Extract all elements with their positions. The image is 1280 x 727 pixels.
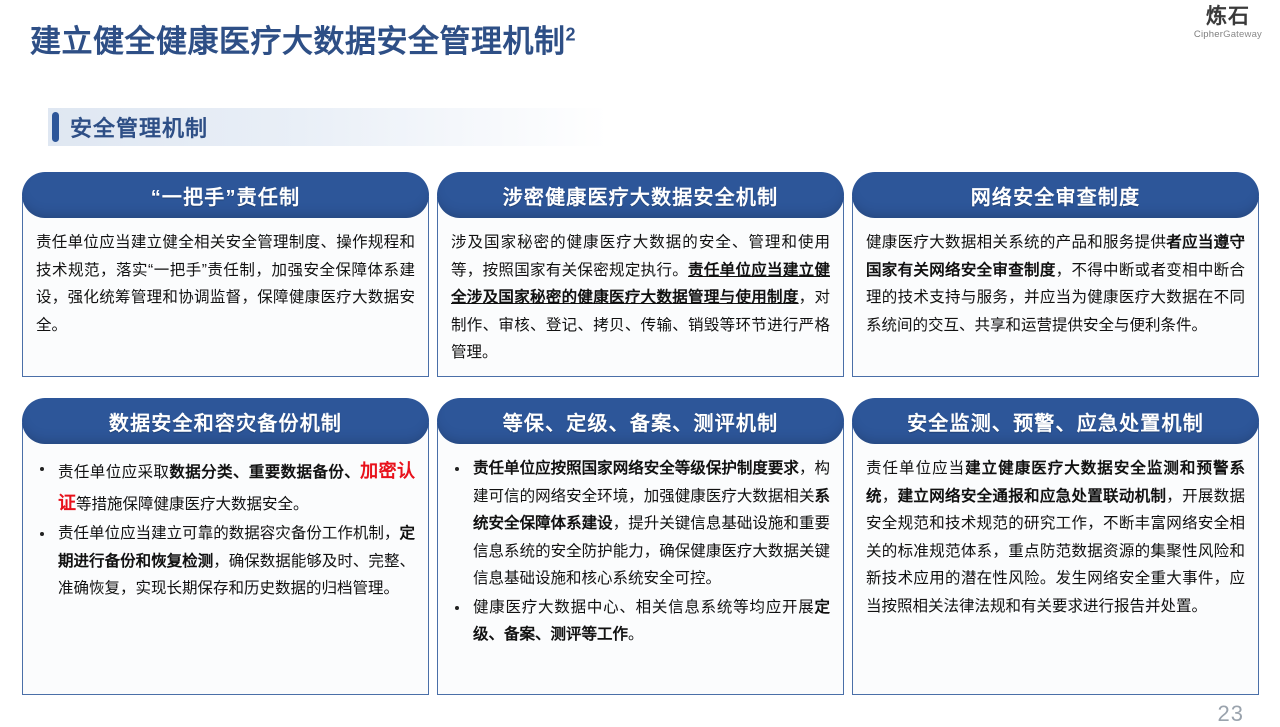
card-backup: 数据安全和容灾备份机制 责任单位应采取数据分类、重要数据备份、加密认证等措施保障… [22, 398, 429, 695]
card-bullet-list: 责任单位应采取数据分类、重要数据备份、加密认证等措施保障健康医疗大数据安全。 责… [36, 455, 415, 603]
card-header: 涉密健康医疗大数据安全机制 [437, 172, 844, 218]
card-body: 责任单位应当建立健全相关安全管理制度、操作规程和技术规范，落实“一把手”责任制，… [22, 197, 429, 377]
page-number: 23 [1218, 701, 1244, 727]
card-bullet-list: 责任单位应按照国家网络安全等级保护制度要求，构建可信的网络安全环境，加强健康医疗… [451, 455, 830, 649]
list-item: 责任单位应采取数据分类、重要数据备份、加密认证等措施保障健康医疗大数据安全。 [36, 455, 415, 519]
card-leader-responsibility: “一把手”责任制 责任单位应当建立健全相关安全管理制度、操作规程和技术规范，落实… [22, 172, 429, 377]
card-text-plain-3: ，开展数据安全规范和技术规范的研究工作，不断丰富网络安全相关的标准规范体系，重点… [866, 488, 1245, 615]
card-network-review: 网络安全审查制度 健康医疗大数据相关系统的产品和服务提供者应当遵守国家有关网络安… [852, 172, 1259, 377]
card-title: 安全监测、预警、应急处置机制 [907, 407, 1204, 436]
logo-english-text: CipherGateway [1194, 30, 1262, 40]
bullet-text-plain-1: 责任单位应采取 [58, 464, 169, 481]
page-title-text: 建立健全健康医疗大数据安全管理机制 [30, 24, 566, 59]
bullet-text-plain-2: 等措施保障健康医疗大数据安全。 [76, 496, 309, 513]
card-title: 数据安全和容灾备份机制 [109, 407, 342, 436]
card-body: 责任单位应采取数据分类、重要数据备份、加密认证等措施保障健康医疗大数据安全。 责… [22, 423, 429, 695]
card-body: 涉及国家秘密的健康医疗大数据的安全、管理和使用等，按照国家有关保密规定执行。责任… [437, 197, 844, 377]
card-header: 等保、定级、备案、测评机制 [437, 398, 844, 444]
section-title: 安全管理机制 [70, 111, 208, 143]
card-paragraph: 责任单位应当建立健全相关安全管理制度、操作规程和技术规范，落实“一把手”责任制，… [36, 234, 415, 334]
card-row-bottom: 数据安全和容灾备份机制 责任单位应采取数据分类、重要数据备份、加密认证等措施保障… [22, 398, 1260, 695]
card-header: 网络安全审查制度 [852, 172, 1259, 218]
logo-chinese-text: 炼石 [1194, 6, 1262, 27]
bullet-text-plain-1: 责任单位应当建立可靠的数据容灾备份工作机制， [58, 525, 399, 542]
card-text-plain-1: 责任单位应当 [866, 460, 965, 477]
card-header: 数据安全和容灾备份机制 [22, 398, 429, 444]
logo-english-part2: Gateway [1223, 29, 1262, 40]
list-item: 责任单位应当建立可靠的数据容灾备份工作机制，定期进行备份和恢复检测，确保数据能够… [36, 520, 415, 603]
page-title-superscript: 2 [566, 25, 577, 45]
card-grading: 等保、定级、备案、测评机制 责任单位应按照国家网络安全等级保护制度要求，构建可信… [437, 398, 844, 695]
logo-english-part1: Cipher [1194, 29, 1223, 40]
list-item: 健康医疗大数据中心、相关信息系统等均应开展定级、备案、测评等工作。 [451, 594, 830, 649]
card-title: 网络安全审查制度 [971, 181, 1141, 210]
card-body: 责任单位应当建立健康医疗大数据安全监测和预警系统，建立网络安全通报和应急处置联动… [852, 423, 1259, 695]
list-item: 责任单位应按照国家网络安全等级保护制度要求，构建可信的网络安全环境，加强健康医疗… [451, 455, 830, 593]
card-body: 健康医疗大数据相关系统的产品和服务提供者应当遵守国家有关网络安全审查制度，不得中… [852, 197, 1259, 377]
card-header: 安全监测、预警、应急处置机制 [852, 398, 1259, 444]
brand-logo: 炼石 CipherGateway [1194, 6, 1262, 40]
bullet-text-plain-1: 健康医疗大数据中心、相关信息系统等均应开展 [473, 599, 814, 616]
card-text-emphasis-2: 建立网络安全通报和应急处置联动机制 [898, 488, 1167, 505]
mechanism-card-grid: “一把手”责任制 责任单位应当建立健全相关安全管理制度、操作规程和技术规范，落实… [22, 172, 1260, 695]
section-accent-bar [52, 112, 59, 142]
card-text-plain-1: 健康医疗大数据相关系统的产品和服务提供 [866, 234, 1166, 251]
card-title: 涉密健康医疗大数据安全机制 [503, 181, 779, 210]
page-title: 建立健全健康医疗大数据安全管理机制2 [30, 16, 576, 61]
section-header-bar: 安全管理机制 [48, 108, 608, 146]
card-text-plain-2: ， [882, 488, 898, 505]
card-classified-data: 涉密健康医疗大数据安全机制 涉及国家秘密的健康医疗大数据的安全、管理和使用等，按… [437, 172, 844, 377]
card-title: “一把手”责任制 [151, 181, 301, 210]
bullet-text-emphasis: 数据分类、重要数据备份、 [169, 464, 360, 481]
card-monitoring: 安全监测、预警、应急处置机制 责任单位应当建立健康医疗大数据安全监测和预警系统，… [852, 398, 1259, 695]
bullet-text-emphasis-1: 责任单位应按照国家网络安全等级保护制度要求 [473, 460, 799, 477]
card-row-top: “一把手”责任制 责任单位应当建立健全相关安全管理制度、操作规程和技术规范，落实… [22, 172, 1260, 377]
card-header: “一把手”责任制 [22, 172, 429, 218]
card-body: 责任单位应按照国家网络安全等级保护制度要求，构建可信的网络安全环境，加强健康医疗… [437, 423, 844, 695]
bullet-text-plain-2: 。 [628, 626, 644, 643]
card-title: 等保、定级、备案、测评机制 [503, 407, 779, 436]
